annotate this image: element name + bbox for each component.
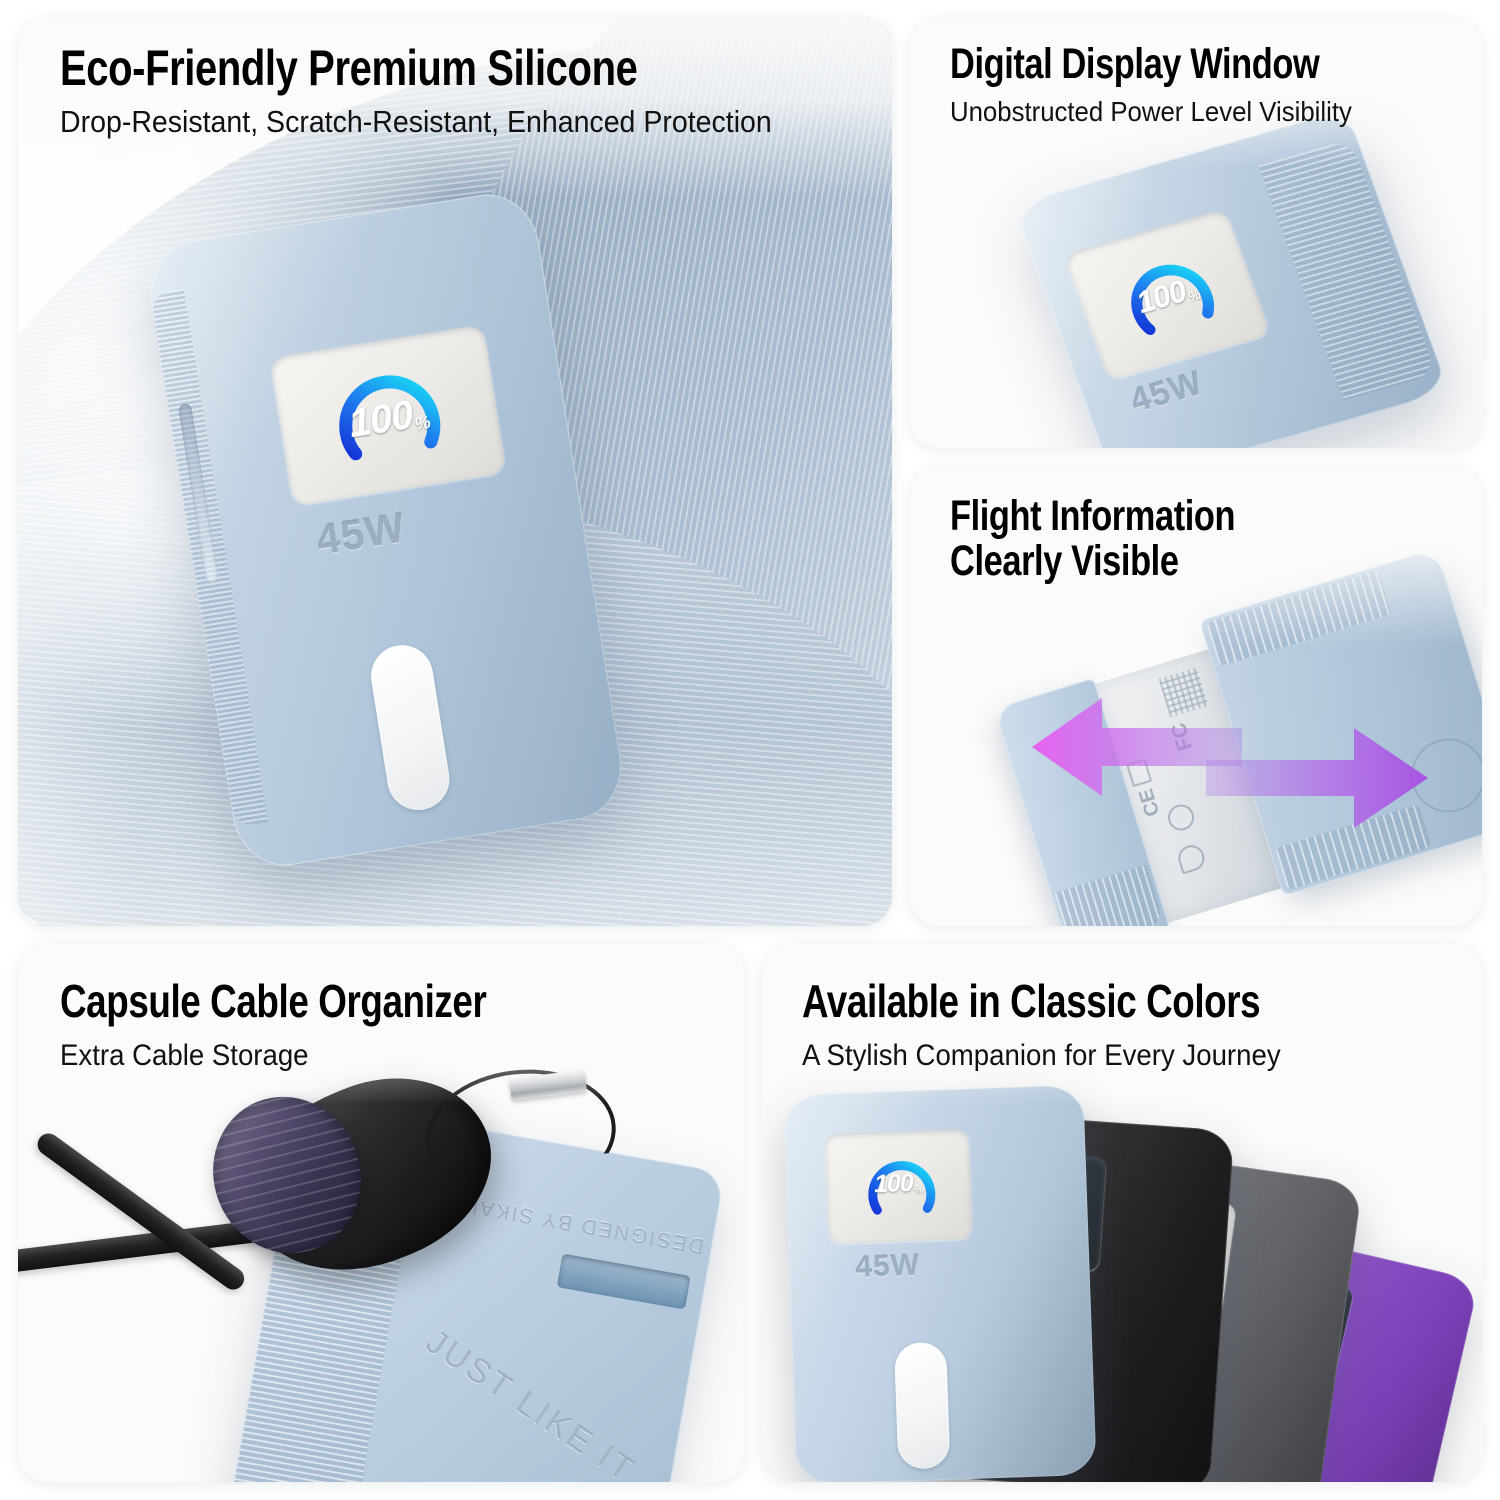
battery-percent-value: 100 xyxy=(346,393,416,446)
recycle-icon xyxy=(1165,801,1197,833)
battery-percent-light-blue: 100% xyxy=(826,1167,971,1201)
product-feature-collage: 100% 45W xyxy=(0,0,1500,1500)
emboss-tagline: JUST LIKE IT . xyxy=(418,1323,662,1482)
panel-capsule-cable-organizer: DESIGNED BY SIKAI JUST LIKE IT . xyxy=(18,944,744,1482)
emboss-brand: DESIGNED BY SIKAI xyxy=(469,1193,706,1258)
power-button xyxy=(894,1342,950,1470)
slide-right-arrow-icon xyxy=(1206,724,1432,832)
panel-available-in-classic-colors: 100% 100% xyxy=(762,944,1482,1482)
panel-digital-display-window: 100% 45W xyxy=(910,18,1482,448)
panel-flight-information: FC CE xyxy=(910,466,1482,926)
digital-display-window: 100% xyxy=(825,1129,973,1244)
panel-heading-scrim xyxy=(910,466,1482,646)
color-variant-light-blue: 100% 45W xyxy=(783,1085,1096,1482)
percent-unit: % xyxy=(914,1183,923,1195)
battery-percent-value: 100 xyxy=(874,1169,914,1198)
usb-port-slot xyxy=(557,1254,691,1310)
panel-eco-friendly-premium-silicone: 100% 45W xyxy=(18,18,892,926)
panel-heading-scrim xyxy=(910,18,1482,168)
panel-heading-scrim xyxy=(762,944,1482,1104)
silicone-rib-texture xyxy=(1055,865,1165,926)
wireless-icon xyxy=(1175,842,1207,874)
percent-unit: % xyxy=(413,412,431,434)
wattage-label-variant: 45W xyxy=(855,1249,921,1285)
panel-heading-scrim xyxy=(18,18,892,198)
panel-heading-scrim xyxy=(18,944,744,1104)
